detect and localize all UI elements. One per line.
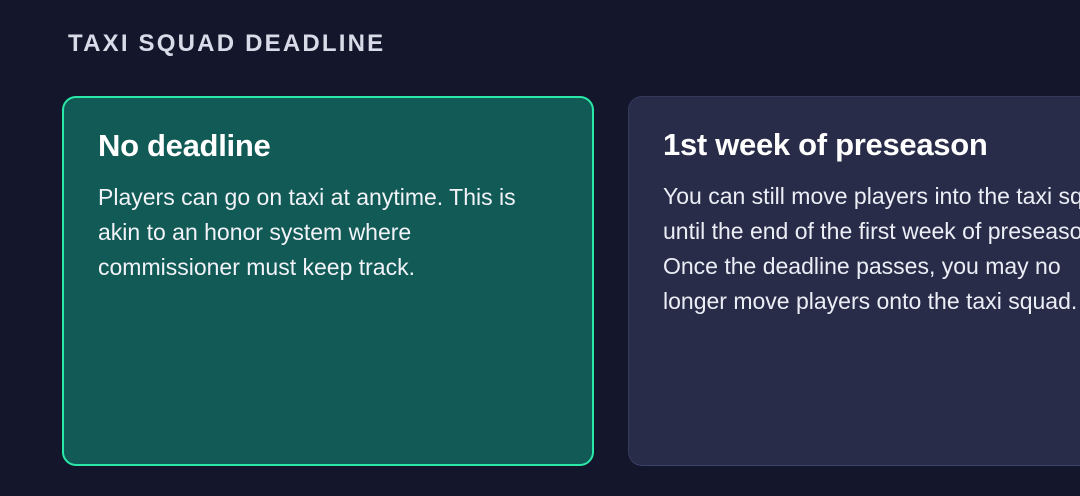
option-card-first-week-of-preseason[interactable]: 1st week of preseason You can still move… bbox=[628, 96, 1080, 466]
option-card-no-deadline[interactable]: No deadline Players can go on taxi at an… bbox=[62, 96, 594, 466]
option-card-description: You can still move players into the taxi… bbox=[663, 179, 1080, 319]
option-card-title: 1st week of preseason bbox=[663, 127, 1080, 163]
option-card-title: No deadline bbox=[98, 128, 558, 164]
option-card-description: Players can go on taxi at anytime. This … bbox=[98, 180, 558, 285]
taxi-squad-deadline-screen: TAXI SQUAD DEADLINE No deadline Players … bbox=[0, 0, 1080, 496]
option-card-carousel[interactable]: No deadline Players can go on taxi at an… bbox=[0, 96, 1080, 496]
page-title: TAXI SQUAD DEADLINE bbox=[68, 30, 385, 58]
